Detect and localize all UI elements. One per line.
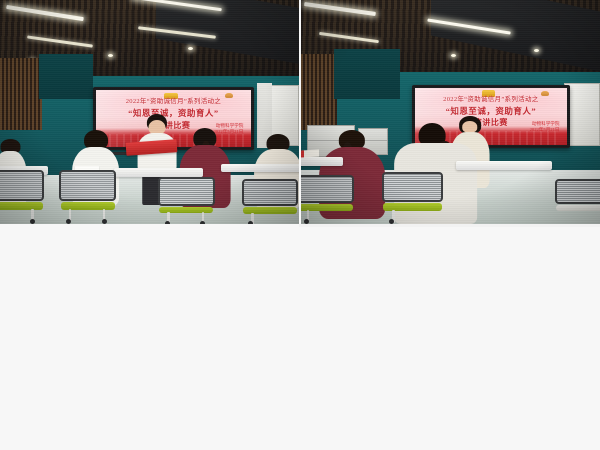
chair[interactable] [301, 175, 361, 224]
screen-title-line1: 2022年“资助诚信月”系列活动之 [415, 96, 567, 105]
screen-title-line2: “知恩至诚，资助育人” [415, 106, 567, 117]
screen-credit-date: 2022年5月21日 [530, 127, 560, 133]
name-card [301, 150, 319, 158]
chair[interactable] [155, 177, 221, 224]
screen-credit: 动物科学学院 2022年5月21日 [530, 121, 560, 134]
desk [221, 164, 299, 173]
chair[interactable] [379, 172, 451, 224]
panel-top-right: 2022年“资助诚信月”系列活动之 “知恩至诚，资助育人” 演讲比赛 动物科学学… [301, 0, 600, 224]
wood-slat-wall [301, 54, 337, 130]
wall-upper [39, 54, 93, 99]
screen-title-line1: 2022年“资助诚信月”系列活动之 [96, 98, 251, 107]
desk [456, 161, 552, 170]
desk [114, 168, 204, 177]
panel-top-left: 2022年“资助诚信月”系列活动之 “知恩至诚，资助育人” 演讲比赛 动物科学学… [0, 0, 299, 224]
chair[interactable] [57, 170, 123, 224]
wall-upper [334, 49, 400, 98]
collage-gap-horizontal [0, 227, 600, 450]
chair[interactable] [0, 170, 51, 224]
chair[interactable] [239, 179, 299, 224]
chair[interactable] [552, 179, 600, 224]
desk [301, 157, 343, 166]
wood-slat-wall [0, 58, 42, 130]
photo-collage: 2022年“资助诚信月”系列活动之 “知恩至诚，资助育人” 演讲比赛 动物科学学… [0, 0, 600, 450]
